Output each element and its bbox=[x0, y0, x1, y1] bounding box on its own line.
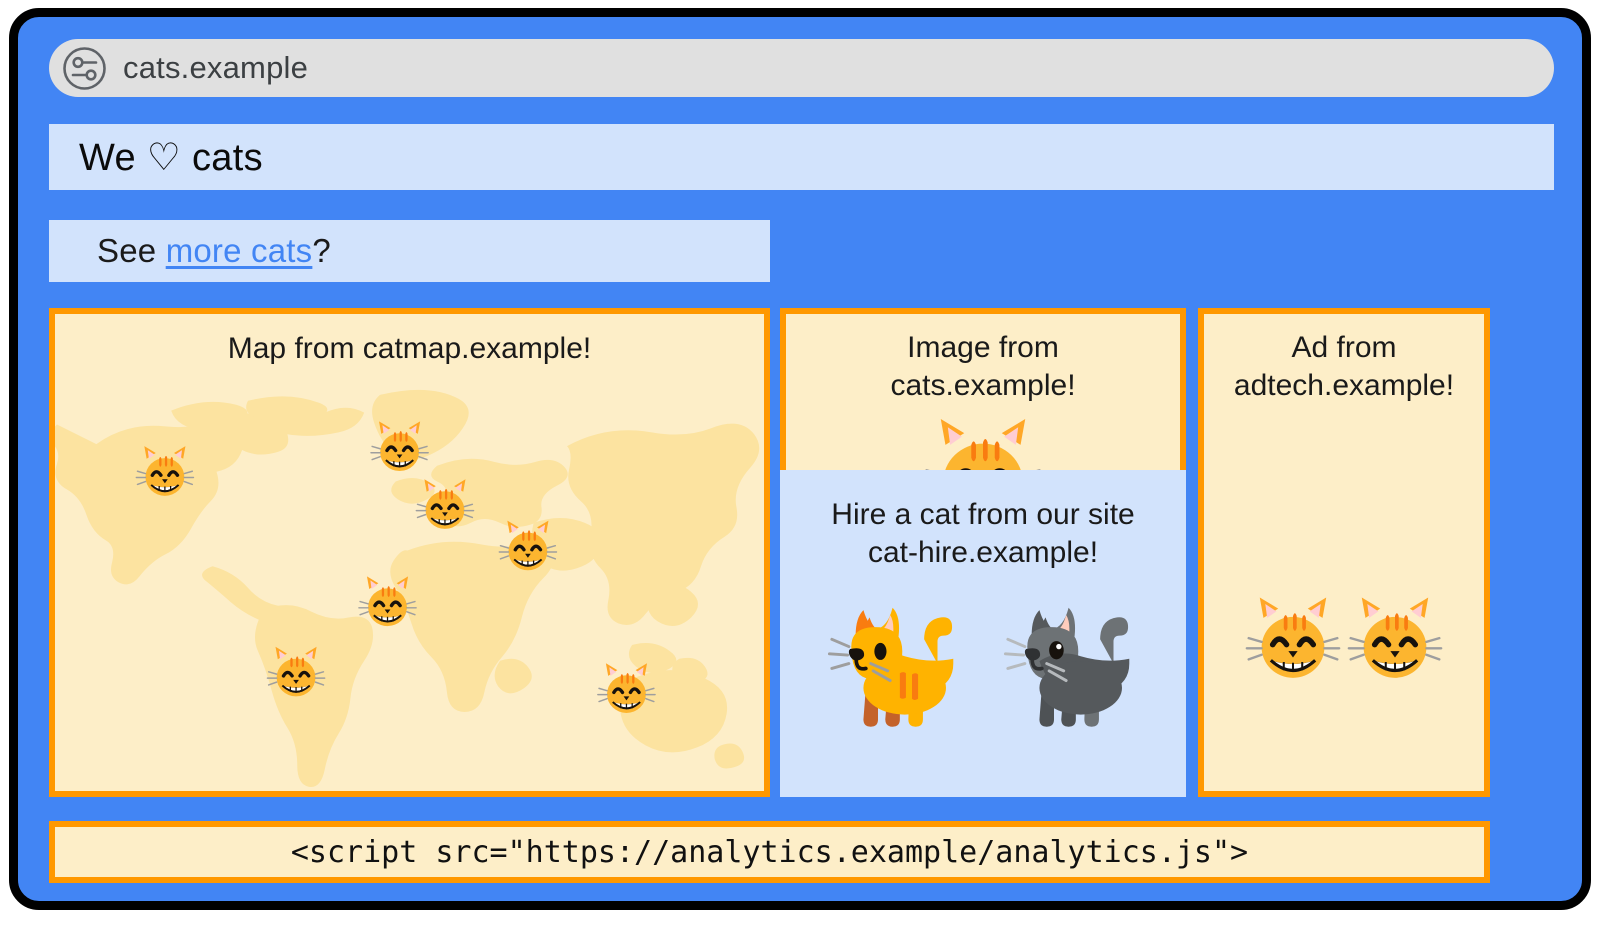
ad-panel-figures bbox=[1204, 592, 1484, 688]
address-bar[interactable]: cats.example bbox=[49, 39, 1554, 97]
hire-panel-title: Hire a cat from our site cat-hire.exampl… bbox=[780, 496, 1186, 571]
link-suffix: ? bbox=[312, 232, 331, 269]
tune-sliders-icon bbox=[62, 46, 107, 91]
link-prefix: See bbox=[97, 232, 166, 269]
ad-panel: Ad from adtech.example! bbox=[1198, 308, 1490, 797]
address-bar-url: cats.example bbox=[123, 50, 308, 86]
hire-panel: Hire a cat from our site cat-hire.exampl… bbox=[780, 470, 1186, 797]
headline-banner: We ♡ cats bbox=[49, 124, 1554, 190]
more-cats-link[interactable]: more cats bbox=[166, 232, 313, 269]
grinning-cat-face-icon bbox=[1347, 592, 1443, 688]
image-panel-title: Image from cats.example! bbox=[786, 329, 1180, 404]
orange-cat-icon bbox=[820, 598, 970, 734]
browser-window: cats.example We ♡ cats See more cats? Ma… bbox=[9, 8, 1591, 910]
script-footer: <script src="https://analytics.example/a… bbox=[49, 821, 1490, 883]
page-content: We ♡ cats See more cats? Map from catmap… bbox=[18, 107, 1582, 901]
hire-panel-figures bbox=[780, 598, 1186, 734]
grinning-cat-face-icon bbox=[1245, 592, 1341, 688]
gray-cat-icon bbox=[996, 598, 1146, 734]
analytics-script-tag: <script src="https://analytics.example/a… bbox=[291, 835, 1248, 870]
link-line: See more cats? bbox=[97, 232, 331, 270]
map-panel-title: Map from catmap.example! bbox=[55, 330, 764, 368]
map-panel: Map from catmap.example! bbox=[49, 308, 770, 797]
page-title: We ♡ cats bbox=[79, 135, 263, 180]
link-box: See more cats? bbox=[49, 220, 770, 282]
ad-panel-title: Ad from adtech.example! bbox=[1204, 329, 1484, 404]
world-map bbox=[55, 372, 764, 792]
